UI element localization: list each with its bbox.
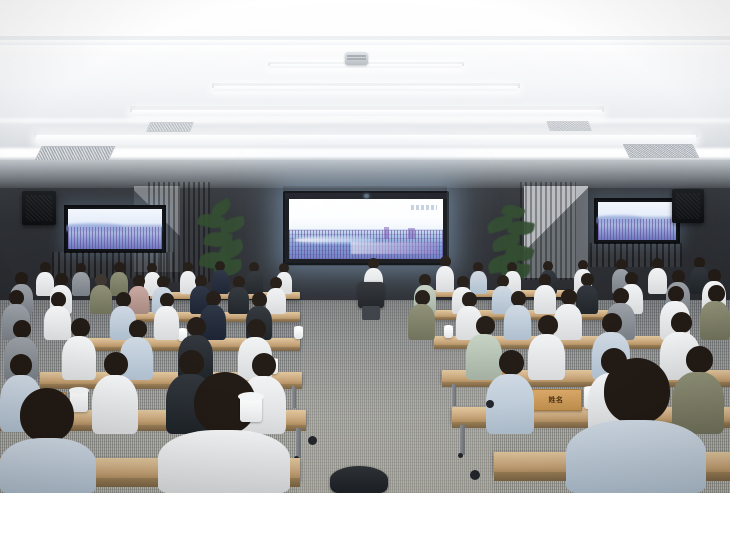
attendee-foreground — [0, 388, 96, 493]
attendee — [110, 262, 128, 296]
ceiling-vent — [34, 146, 115, 161]
wall-speaker-right — [672, 189, 704, 223]
screenshot-root: 姓名 — [0, 0, 730, 548]
name-card-label: 姓名 — [549, 397, 564, 404]
ceiling-light-strip — [132, 110, 602, 116]
main-led-screen[interactable] — [283, 191, 449, 265]
attendee — [92, 352, 138, 434]
ceiling-light-strip — [0, 40, 730, 45]
attendee — [212, 261, 229, 294]
attendee — [534, 274, 556, 314]
attendee — [62, 318, 96, 380]
ceiling-light-wash — [0, 118, 730, 123]
right-screen-mount — [590, 243, 682, 267]
attendee — [700, 285, 730, 340]
tea-cup — [294, 328, 303, 339]
attendee — [72, 263, 90, 296]
office-chair[interactable] — [330, 466, 388, 493]
tea-cup — [444, 327, 453, 338]
screen-logo-watermark — [411, 205, 437, 210]
main-screen-content — [289, 199, 443, 259]
ceiling-light-strip — [36, 135, 696, 143]
attendee — [90, 274, 112, 314]
left-led-screen[interactable] — [64, 205, 166, 253]
right-led-screen[interactable] — [594, 198, 680, 244]
attendee-foreground — [566, 358, 706, 493]
ceiling-light-strip — [214, 86, 518, 91]
ceiling-soffit — [0, 160, 730, 188]
ceiling-vent — [546, 121, 592, 131]
attendee — [154, 293, 179, 340]
wall-speaker-left — [22, 191, 56, 225]
chair-base — [362, 306, 380, 320]
white-margin — [0, 493, 730, 548]
smoke-detector-icon — [345, 52, 368, 65]
screen-camera-icon — [364, 194, 369, 198]
attendee — [408, 290, 435, 340]
office-chair[interactable] — [358, 282, 384, 308]
attendee-foreground — [158, 372, 290, 493]
ceiling-vent — [623, 144, 700, 158]
attendee — [504, 291, 531, 340]
ceiling-vent — [146, 122, 194, 132]
attendee — [486, 350, 534, 434]
conference-room-photo: 姓名 — [0, 0, 730, 493]
